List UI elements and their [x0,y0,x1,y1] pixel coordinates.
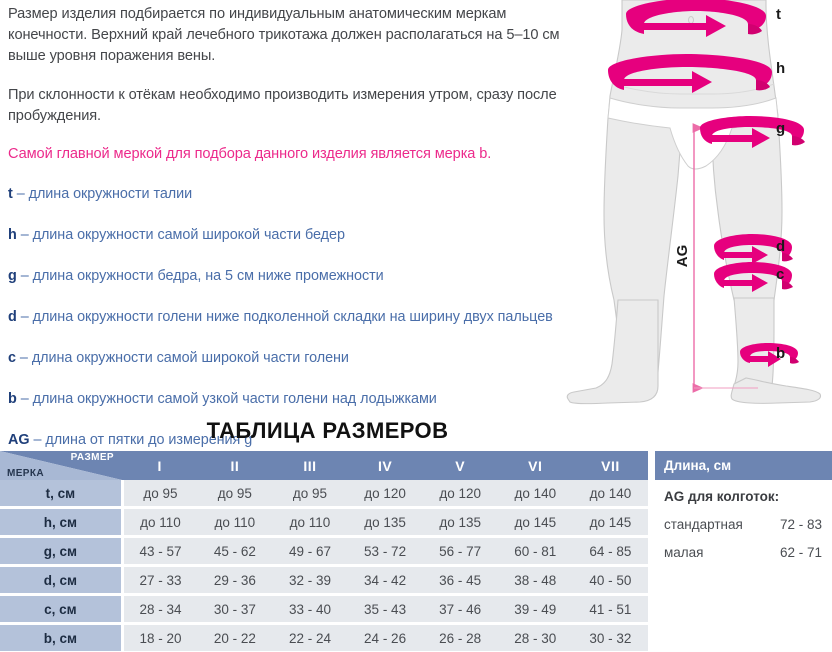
length-table: Длина, см AG для колготок: стандартная 7… [655,451,832,567]
cell-b-4: 24 - 26 [348,624,423,652]
text-column: Размер изделия подбирается по индивидуал… [8,4,568,471]
body-figure-svg: AG [560,0,832,408]
cell-t-7: до 140 [573,480,648,508]
highlight-note: Самой главной меркой для подбора данного… [8,144,568,165]
page-title: ТАБЛИЦА РАЗМЕРОВ [0,418,655,444]
cell-h-1: до 110 [122,508,197,537]
table-row: h, см до 110 до 110 до 110 до 135 до 135… [0,508,648,537]
cell-b-3: 22 - 24 [272,624,347,652]
illustration-label-c: c [776,266,784,283]
ag-vertical-label: AG [674,245,691,268]
legend-key-c: c [8,350,16,366]
legend-text-t: длина окружности талии [29,186,193,202]
cell-c-7: 41 - 51 [573,595,648,624]
illustration-label-h: h [776,60,785,77]
cell-t-6: до 140 [498,480,573,508]
legend-text-g: длина окружности бедра, на 5 см ниже про… [33,268,384,284]
length-row-small-value: 62 - 71 [780,539,822,567]
legend-key-g: g [8,268,17,284]
legend-key-b: b [8,391,17,407]
legend-dash-b: – [17,391,33,407]
cell-b-2: 20 - 22 [197,624,272,652]
cell-t-4: до 120 [348,480,423,508]
illustration-label-b: b [776,345,785,362]
cell-b-6: 28 - 30 [498,624,573,652]
cell-g-3: 49 - 67 [272,537,347,566]
cell-t-3: до 95 [272,480,347,508]
legend-item-b: b – длина окружности самой узкой части г… [8,389,568,409]
illustration-label-d: d [776,238,785,255]
cell-g-6: 60 - 81 [498,537,573,566]
cell-d-7: 40 - 50 [573,566,648,595]
cell-g-1: 43 - 57 [122,537,197,566]
legend-text-d: длина окружности голени ниже подколенной… [33,309,553,325]
length-row-standard: стандартная 72 - 83 [655,511,832,539]
size-column-1: I [122,451,197,480]
tables-section: РАЗМЕР МЕРКА I II III IV V VI VII t, см … [0,451,832,647]
intro-section: Размер изделия подбирается по индивидуал… [0,0,832,408]
row-label-b: b, см [0,624,122,652]
length-row-small-label: малая [664,539,704,567]
cell-c-6: 39 - 49 [498,595,573,624]
cell-g-4: 53 - 72 [348,537,423,566]
cell-h-4: до 135 [348,508,423,537]
table-row: g, см 43 - 57 45 - 62 49 - 67 53 - 72 56… [0,537,648,566]
legend-text-h: длина окружности самой широкой части бед… [33,227,345,243]
table-row: c, см 28 - 34 30 - 37 33 - 40 35 - 43 37… [0,595,648,624]
cell-t-2: до 95 [197,480,272,508]
cell-d-6: 38 - 48 [498,566,573,595]
table-row: d, см 27 - 33 29 - 36 32 - 39 34 - 42 36… [0,566,648,595]
legend-item-h: h – длина окружности самой широкой части… [8,225,568,245]
legend-dash-h: – [17,227,33,243]
cell-d-2: 29 - 36 [197,566,272,595]
cell-c-1: 28 - 34 [122,595,197,624]
size-table-corner-cell: РАЗМЕР МЕРКА [0,451,122,480]
row-label-c: c, см [0,595,122,624]
cell-g-2: 45 - 62 [197,537,272,566]
length-table-subtitle: AG для колготок: [655,480,832,511]
intro-paragraph-2: При склонности к отёкам необходимо произ… [8,85,568,127]
size-column-6: VI [498,451,573,480]
legend-text-c: длина окружности самой широкой части гол… [32,350,349,366]
size-table-head: РАЗМЕР МЕРКА I II III IV V VI VII [0,451,648,480]
legend-key-d: d [8,309,17,325]
cell-d-3: 32 - 39 [272,566,347,595]
cell-t-5: до 120 [423,480,498,508]
size-table-body: t, см до 95 до 95 до 95 до 120 до 120 до… [0,480,648,651]
size-table-header-row: РАЗМЕР МЕРКА I II III IV V VI VII [0,451,648,480]
cell-g-5: 56 - 77 [423,537,498,566]
corner-size-label: РАЗМЕР [71,452,114,463]
cell-h-2: до 110 [197,508,272,537]
cell-c-4: 35 - 43 [348,595,423,624]
measurement-illustration: AG [560,0,832,408]
row-label-d: d, см [0,566,122,595]
size-table: РАЗМЕР МЕРКА I II III IV V VI VII t, см … [0,451,648,651]
cell-b-7: 30 - 32 [573,624,648,652]
cell-c-2: 30 - 37 [197,595,272,624]
size-column-5: V [423,451,498,480]
cell-d-1: 27 - 33 [122,566,197,595]
legend-item-g: g – длина окружности бедра, на 5 см ниже… [8,266,568,286]
legend-dash-g: – [17,268,33,284]
cell-d-5: 36 - 45 [423,566,498,595]
row-label-g: g, см [0,537,122,566]
size-column-4: IV [348,451,423,480]
cell-t-1: до 95 [122,480,197,508]
illustration-label-g: g [776,120,785,137]
size-column-2: II [197,451,272,480]
size-column-3: III [272,451,347,480]
row-label-t: t, см [0,480,122,508]
cell-b-5: 26 - 28 [423,624,498,652]
intro-paragraph-1: Размер изделия подбирается по индивидуал… [8,4,568,67]
cell-h-6: до 145 [498,508,573,537]
row-label-h: h, см [0,508,122,537]
length-row-standard-label: стандартная [664,511,743,539]
length-row-small: малая 62 - 71 [655,539,832,567]
table-row: b, см 18 - 20 20 - 22 22 - 24 24 - 26 26… [0,624,648,652]
legend-dash-c: – [16,350,32,366]
cell-h-3: до 110 [272,508,347,537]
legend-dash-t: – [13,186,29,202]
cell-h-5: до 135 [423,508,498,537]
length-row-standard-value: 72 - 83 [780,511,822,539]
size-column-7: VII [573,451,648,480]
table-row: t, см до 95 до 95 до 95 до 120 до 120 до… [0,480,648,508]
cell-g-7: 64 - 85 [573,537,648,566]
legend-text-b: длина окружности самой узкой части голен… [33,391,437,407]
illustration-label-t: t [776,6,781,23]
cell-b-1: 18 - 20 [122,624,197,652]
cell-d-4: 34 - 42 [348,566,423,595]
length-table-header: Длина, см [655,451,832,480]
corner-measure-label: МЕРКА [7,468,44,479]
legend-dash-d: – [17,309,33,325]
legend-item-d: d – длина окружности голени ниже подколе… [8,307,568,327]
cell-c-5: 37 - 46 [423,595,498,624]
cell-h-7: до 145 [573,508,648,537]
cell-c-3: 33 - 40 [272,595,347,624]
legend-item-t: t – длина окружности талии [8,184,568,204]
legend-item-c: c – длина окружности самой широкой части… [8,348,568,368]
legend-key-h: h [8,227,17,243]
